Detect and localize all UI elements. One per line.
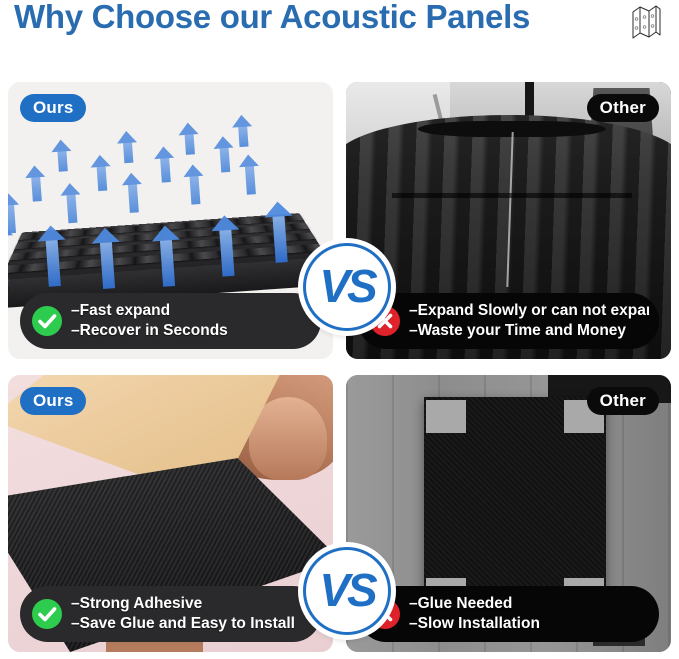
caption-line: –Recover in Seconds xyxy=(71,322,228,340)
check-circle-icon xyxy=(32,306,62,336)
caption-line: –Waste your Time and Money xyxy=(409,322,649,340)
caption-bar-bottom-left: –Strong Adhesive –Save Glue and Easy to … xyxy=(20,586,321,642)
acoustic-panel-icon xyxy=(629,3,663,41)
check-circle-icon xyxy=(32,599,62,629)
badge-ours: Ours xyxy=(20,94,86,122)
vs-badge-label: VS xyxy=(319,567,374,613)
caption-bar-top-right: –Expand Slowly or can not expand –Waste … xyxy=(358,293,659,349)
panel-bottom-right: Other –Glue Needed –Slow Installation xyxy=(346,375,671,652)
caption-lines: –Glue Needed –Slow Installation xyxy=(409,595,540,633)
panel-top-right: Other –Expand Slowly or can not expand –… xyxy=(346,82,671,359)
caption-lines: –Strong Adhesive –Save Glue and Easy to … xyxy=(71,595,295,633)
caption-line: –Glue Needed xyxy=(409,595,540,613)
badge-other: Other xyxy=(587,94,659,122)
caption-bar-top-left: –Fast expand –Recover in Seconds xyxy=(20,293,321,349)
vs-badge-label: VS xyxy=(319,263,374,309)
badge-other: Other xyxy=(587,387,659,415)
page-title: Why Choose our Acoustic Panels xyxy=(14,0,530,36)
caption-lines: –Fast expand –Recover in Seconds xyxy=(71,302,228,340)
caption-line: –Expand Slowly or can not expand xyxy=(409,302,649,320)
foam-seam-horizontal xyxy=(392,193,633,198)
vs-badge-bottom: VS xyxy=(303,547,391,635)
badge-ours: Ours xyxy=(20,387,86,415)
panel-top-left: Ours –Fast expand –Recover in Seconds xyxy=(8,82,333,359)
foam-illustration xyxy=(8,105,333,321)
caption-lines: –Expand Slowly or can not expand –Waste … xyxy=(409,302,649,340)
comparison-grid: Ours –Fast expand –Recover in Seconds xyxy=(8,82,671,652)
caption-line: –Slow Installation xyxy=(409,615,540,633)
caption-line: –Strong Adhesive xyxy=(71,595,295,613)
comparison-infographic: Why Choose our Acoustic Panels xyxy=(0,0,679,659)
caption-line: –Fast expand xyxy=(71,302,228,320)
panel-bottom-left: Ours –Strong Adhesive –Save Glue and Eas… xyxy=(8,375,333,652)
black-acoustic-panel xyxy=(424,397,606,613)
corner-tape-top-left xyxy=(426,400,466,432)
caption-bar-bottom-right: –Glue Needed –Slow Installation xyxy=(358,586,659,642)
caption-line: –Save Glue and Easy to Install xyxy=(71,615,295,633)
header: Why Choose our Acoustic Panels xyxy=(0,0,679,78)
vs-badge-top: VS xyxy=(303,243,391,331)
